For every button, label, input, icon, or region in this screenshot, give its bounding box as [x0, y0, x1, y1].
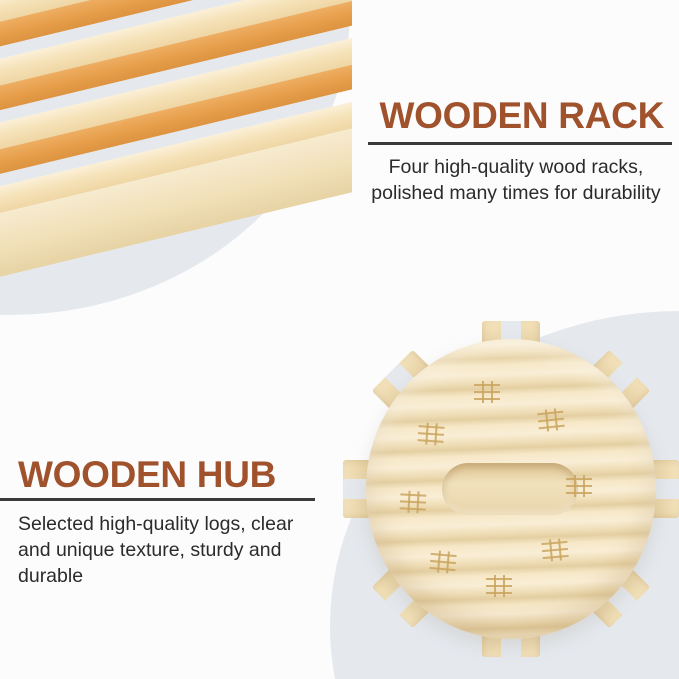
hub-title-divider — [0, 498, 315, 501]
hub-section-title: WOODEN HUB — [18, 456, 276, 493]
hub-lattice-engraving — [541, 538, 569, 562]
hub-lattice-engraving — [474, 381, 500, 403]
wood-slat-stack — [0, 0, 352, 300]
hub-lattice-engraving — [537, 408, 565, 433]
hub-lattice-engraving — [417, 422, 444, 446]
rack-section-title: WOODEN RACK — [380, 97, 664, 134]
hub-lattice-engraving — [566, 475, 592, 497]
rack-title-divider — [368, 142, 672, 145]
hub-lattice-engraving — [399, 490, 426, 513]
wood-hub-assembly — [366, 339, 656, 639]
hub-section-description: Selected high-quality logs, clear and un… — [18, 512, 310, 590]
rack-section-description: Four high-quality wood racks, polished m… — [360, 155, 672, 207]
hub-lattice-engraving — [429, 550, 457, 574]
wooden-hub-photo — [330, 311, 679, 679]
hub-lattice-engraving — [486, 575, 512, 597]
hub-center-slot — [442, 463, 578, 515]
product-feature-graphic: WOODEN RACK Four high-quality wood racks… — [0, 0, 679, 679]
wooden-rack-photo — [0, 0, 352, 318]
